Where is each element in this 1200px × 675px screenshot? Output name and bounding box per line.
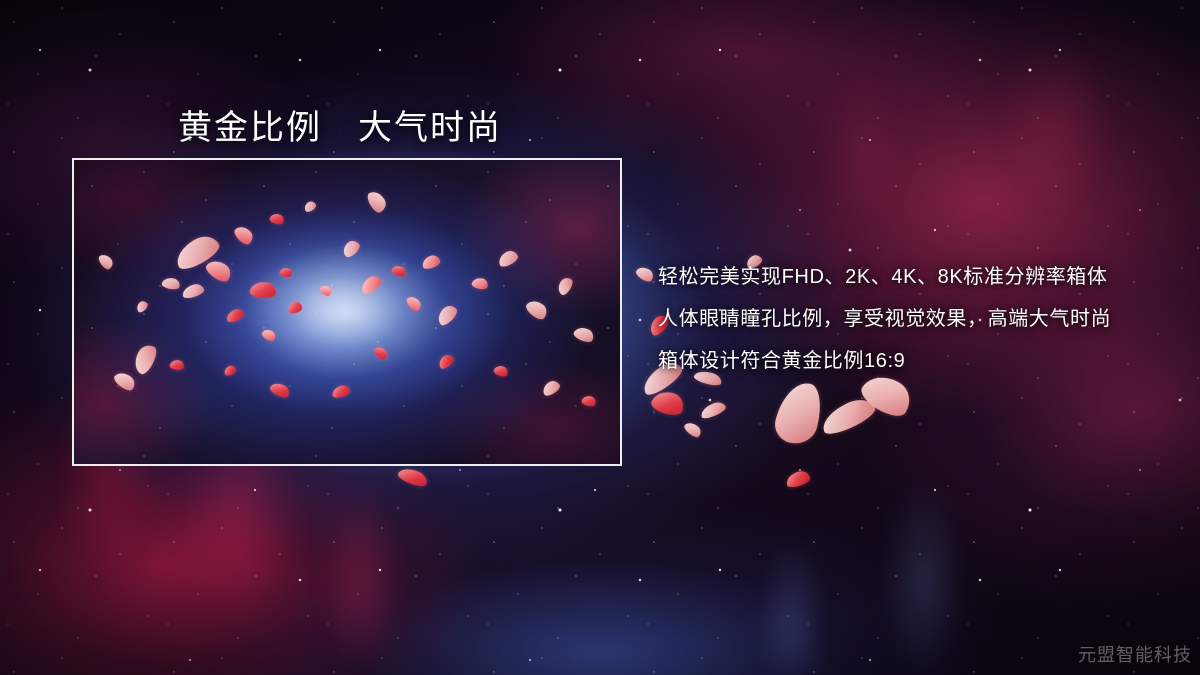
flower-petal-icon xyxy=(785,469,812,489)
watermark: 元盟智能科技 xyxy=(1078,641,1192,667)
nebula-photo-frame xyxy=(72,158,622,466)
flower-petal-icon xyxy=(649,388,686,419)
body-text-block: 轻松完美实现FHD、2K、4K、8K标准分辨率箱体人体眼睛瞳孔比例，享受视觉效果… xyxy=(658,256,1178,382)
frame-core-glow xyxy=(74,160,620,464)
page-title: 黄金比例 大气时尚 xyxy=(178,100,502,149)
flower-petal-icon xyxy=(771,378,827,448)
flower-petal-icon xyxy=(683,420,704,440)
body-text-line: 轻松完美实现FHD、2K、4K、8K标准分辨率箱体 xyxy=(658,256,1178,298)
body-text-line: 人体眼睛瞳孔比例，享受视觉效果，高端大气时尚 xyxy=(658,298,1178,340)
flower-petal-icon xyxy=(396,465,429,489)
flower-petal-icon xyxy=(699,400,728,421)
presentation-slide: 黄金比例 大气时尚 轻松完美实现FHD、2K、4K、8K标准分辨率箱体人体眼睛瞳… xyxy=(0,0,1200,675)
flower-petal-icon xyxy=(818,394,879,439)
body-text-line: 箱体设计符合黄金比例16:9 xyxy=(658,340,1178,382)
flower-petal-icon xyxy=(634,264,656,284)
